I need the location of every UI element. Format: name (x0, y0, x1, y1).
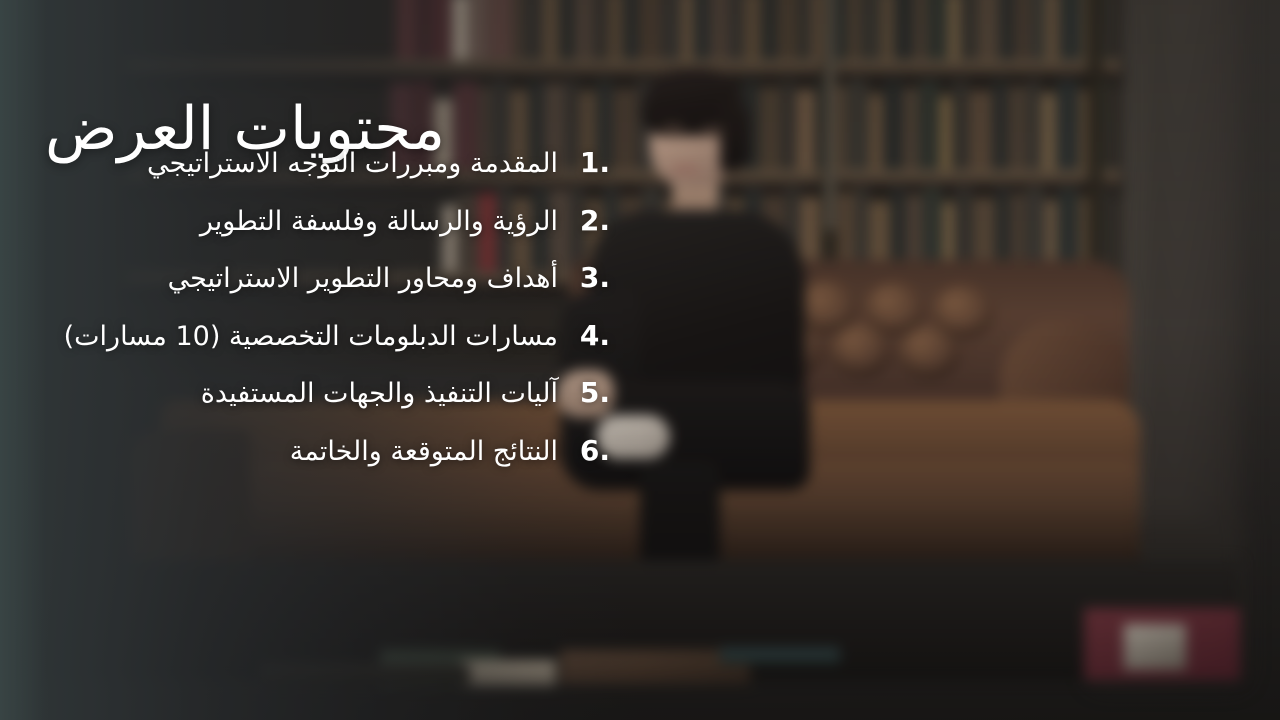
presentation-slide: محتويات العرض 1. المقدمة ومبررات التوجه … (0, 0, 1280, 720)
list-item-number: 2. (558, 204, 620, 237)
list-item[interactable]: 6. النتائج المتوقعة والخاتمة (0, 434, 620, 492)
list-item-label: آليات التنفيذ والجهات المستفيدة (0, 378, 558, 409)
list-item[interactable]: 4. مسارات الدبلومات التخصصية (10 مسارات) (0, 319, 620, 377)
list-item[interactable]: 2. الرؤية والرسالة وفلسفة التطوير (0, 204, 620, 262)
list-item-number: 5. (558, 376, 620, 409)
list-item-number: 3. (558, 261, 620, 294)
list-item-label: النتائج المتوقعة والخاتمة (0, 436, 558, 467)
list-item[interactable]: 5. آليات التنفيذ والجهات المستفيدة (0, 376, 620, 434)
list-item-label: المقدمة ومبررات التوجه الاستراتيجي (0, 148, 558, 179)
list-item-number: 1. (558, 146, 620, 179)
list-item-label: مسارات الدبلومات التخصصية (10 مسارات) (0, 321, 558, 352)
table-of-contents: 1. المقدمة ومبررات التوجه الاستراتيجي 2.… (0, 146, 620, 491)
slide-content: محتويات العرض 1. المقدمة ومبررات التوجه … (0, 0, 1280, 720)
list-item[interactable]: 1. المقدمة ومبررات التوجه الاستراتيجي (0, 146, 620, 204)
list-item-label: أهداف ومحاور التطوير الاستراتيجي (0, 263, 558, 294)
list-item-label: الرؤية والرسالة وفلسفة التطوير (0, 206, 558, 237)
list-item[interactable]: 3. أهداف ومحاور التطوير الاستراتيجي (0, 261, 620, 319)
list-item-number: 4. (558, 319, 620, 352)
list-item-number: 6. (558, 434, 620, 467)
